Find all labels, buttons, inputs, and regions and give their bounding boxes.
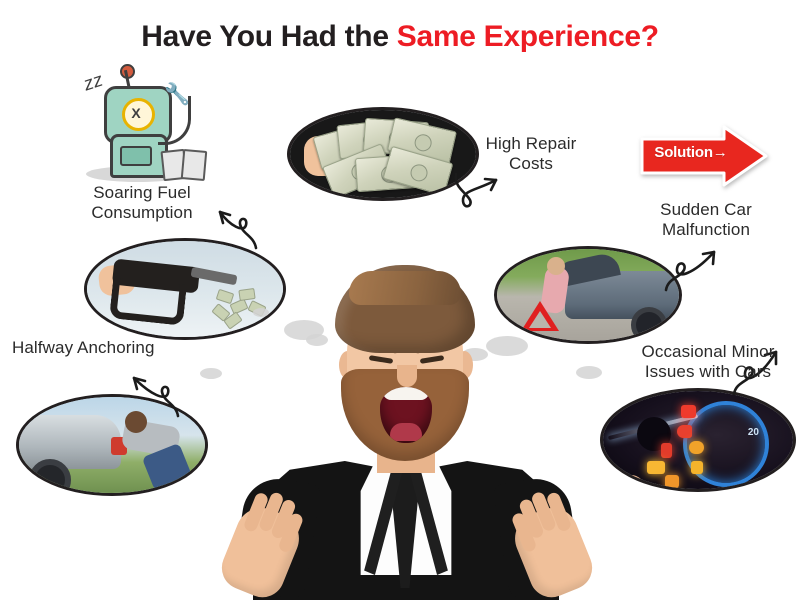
teeth [383, 387, 429, 400]
solution-button[interactable]: Solution→ [640, 125, 768, 187]
brake-warning-light-icon [661, 443, 672, 458]
dial-number: 20 [748, 427, 759, 438]
engine-warning-light-icon [647, 461, 665, 474]
robot-x-face-icon: X [128, 105, 144, 121]
stalled-car [16, 415, 121, 469]
pointer-arrow-anchoring [112, 360, 194, 422]
tongue [390, 423, 422, 441]
hand [609, 475, 645, 492]
broken-robot-icon: zz X 🔧 [78, 62, 198, 186]
label-occasional-minor-issues: Occasional Minor Issues with Cars [620, 342, 796, 382]
page-title-plain: Have You Had the [141, 20, 397, 53]
label-halfway-anchoring: Halfway Anchoring [12, 338, 232, 358]
abs-warning-light-icon [691, 461, 703, 474]
label-high-repair-costs: High Repair Costs [466, 134, 596, 174]
solution-arrow-icon[interactable] [640, 125, 768, 187]
car-wheel [631, 307, 667, 343]
infographic-canvas: Have You Had the Same Experience? zz X 🔧 [0, 0, 800, 600]
nozzle-grip [109, 277, 187, 326]
nose [397, 365, 417, 387]
pointer-arrow-malfunction [662, 240, 734, 302]
robot-panel [120, 146, 152, 166]
hair [335, 265, 475, 353]
robot-sleep-icon: zz [81, 70, 106, 97]
battery-warning-light-icon [681, 405, 696, 418]
label-sudden-car-malfunction: Sudden Car Malfunction [626, 200, 786, 240]
thought-bubble-dot [200, 368, 222, 379]
dashboard-scene: 20 [603, 391, 793, 489]
car-wheel [29, 459, 71, 496]
pointer-arrow-repair [450, 166, 524, 228]
frustrated-businessman [225, 265, 585, 600]
robot-book [181, 149, 208, 181]
wrench-icon: 🔧 [164, 82, 186, 108]
label-soaring-fuel-consumption: Soaring Fuel Consumption [62, 183, 222, 223]
dashboard-photo: 20 [600, 388, 796, 492]
tire-pressure-light-icon [689, 441, 704, 454]
seatbelt-warning-light-icon [665, 475, 679, 488]
counting-money-scene [290, 110, 476, 198]
page-title: Have You Had the Same Experience? [0, 20, 800, 54]
oil-warning-light-icon [677, 425, 692, 438]
page-title-accent: Same Experience? [397, 20, 659, 53]
